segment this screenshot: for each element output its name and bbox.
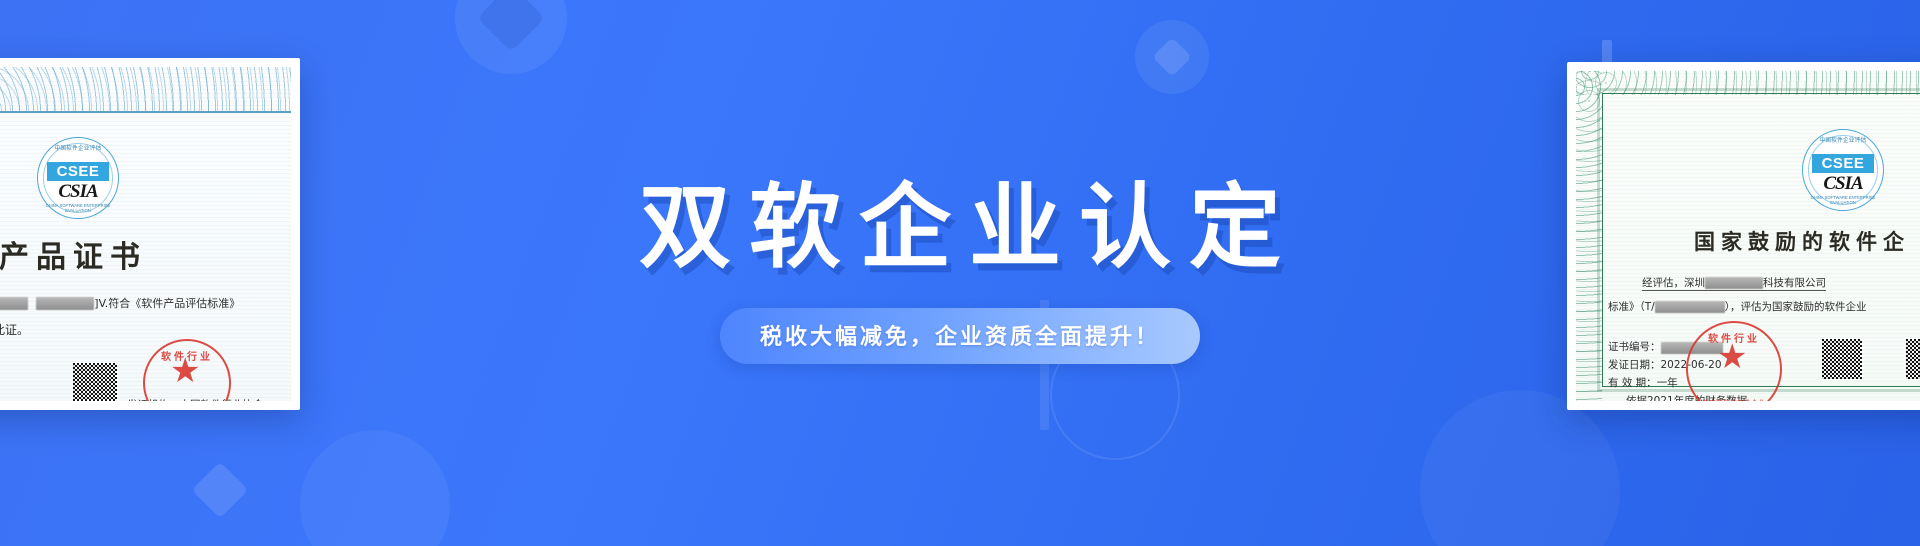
banner-subtitle-pill: 税收大幅减免，企业资质全面提升！ [720, 308, 1200, 364]
banner-headline: 双软企业认定 [621, 182, 1299, 274]
banner-center-content: 双软企业认定 税收大幅减免，企业资质全面提升！ [0, 0, 1920, 546]
promo-banner: 中国软件企业评估 CSEE CSIA CHINA SOFTWARE ENTERP… [0, 0, 1920, 546]
